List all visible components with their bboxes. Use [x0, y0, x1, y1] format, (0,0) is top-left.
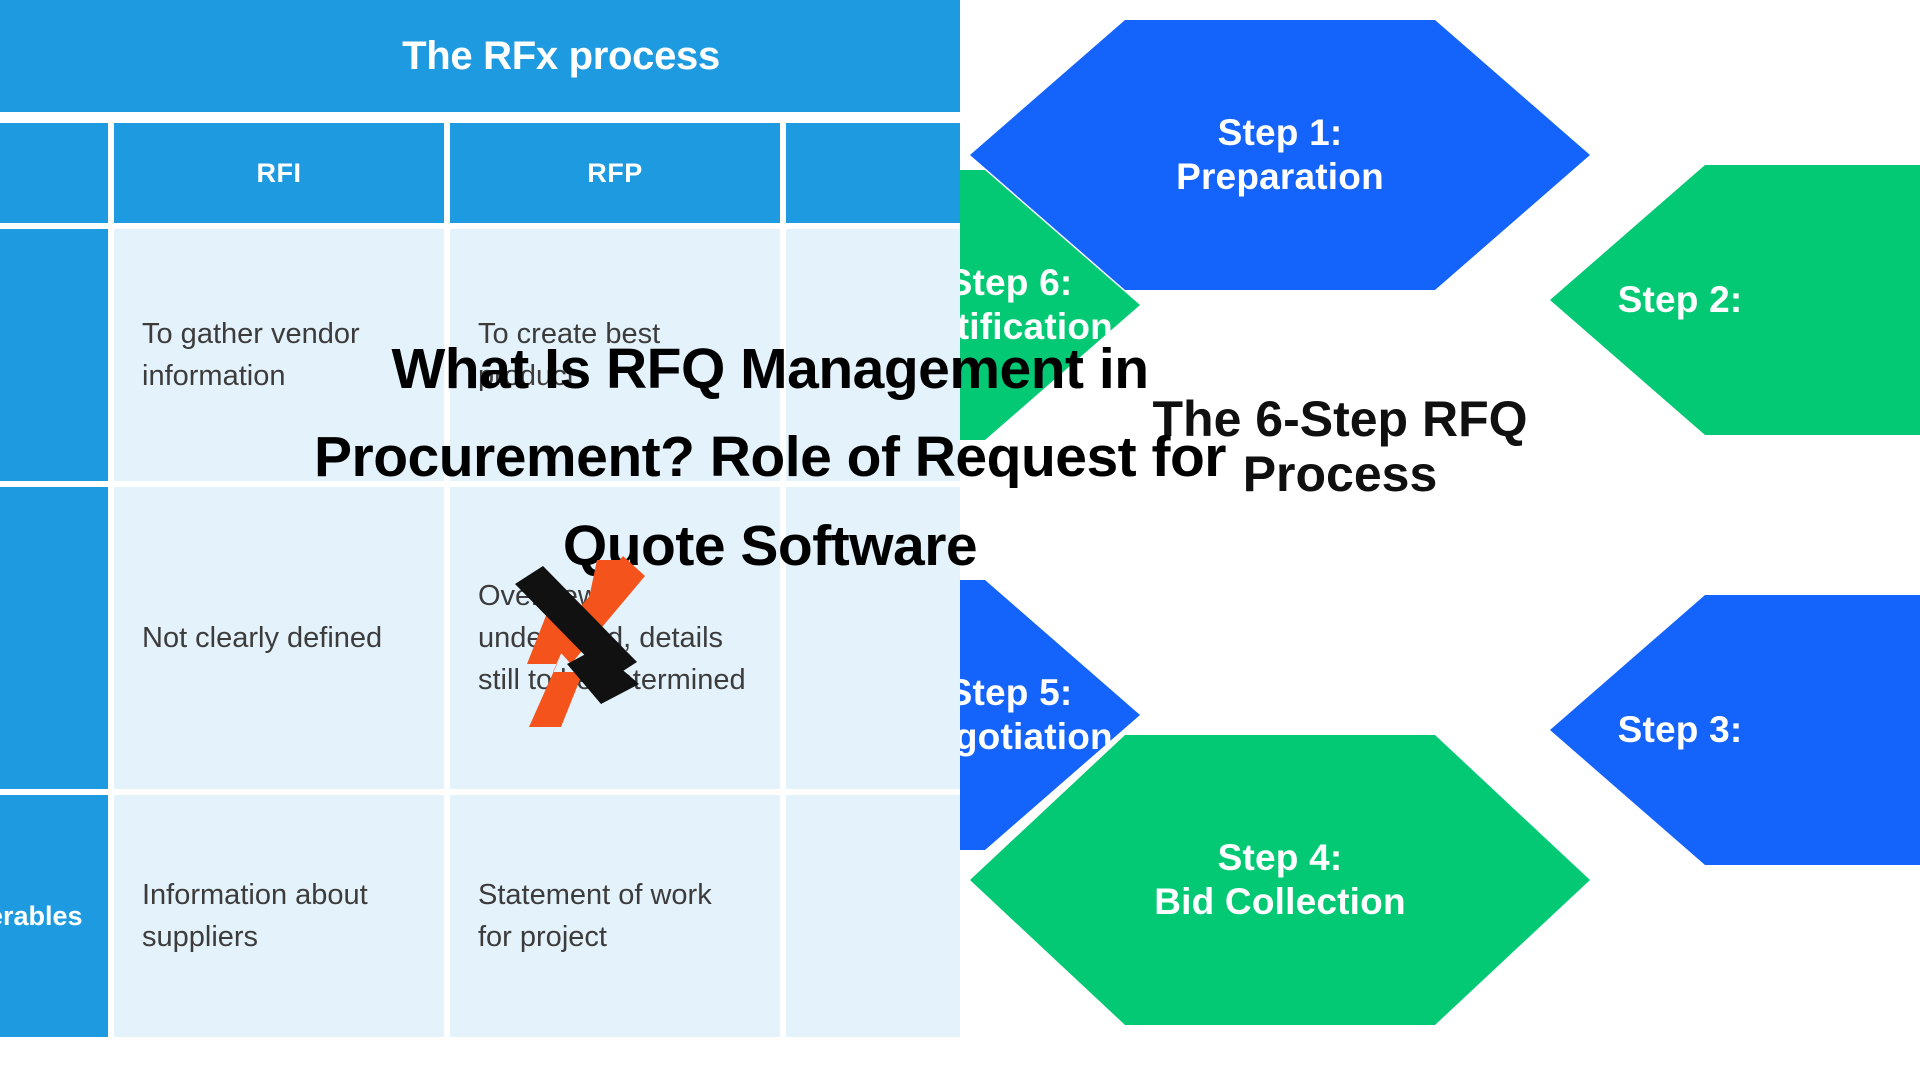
rfx-table: The RFx process RFI RFP To gather vendor…	[0, 0, 960, 1080]
corner-cell	[0, 123, 108, 223]
right-image-rfq-process: Step 1: Preparation Step 2: Step 3: Step…	[960, 0, 1920, 1080]
hex-step-3: Step 3:	[1550, 595, 1920, 865]
table-row: To gather vendor information To create b…	[0, 229, 960, 481]
screenshot-canvas: The RFx process RFI RFP To gather vendor…	[0, 0, 1920, 1080]
row-header-deliverables: Deliverables	[0, 795, 108, 1037]
left-image-rfx-table: The RFx process RFI RFP To gather vendor…	[0, 0, 960, 1080]
cell-rfi-deliverables: Information about suppliers	[114, 795, 444, 1037]
cell-rfp-purpose: To create best product	[450, 229, 780, 481]
cell-rfi-requirements: Not clearly defined	[114, 487, 444, 789]
row-header-requirements	[0, 487, 108, 789]
cell-rfi-purpose: To gather vendor information	[114, 229, 444, 481]
rfq-process-center-title: The 6-Step RFQ Process	[1060, 392, 1620, 502]
column-header-rfq	[786, 123, 960, 223]
column-header-rfi: RFI	[114, 123, 444, 223]
table-row: Deliverables Information about suppliers…	[0, 795, 960, 1037]
rfx-comparison-grid: RFI RFP To gather vendor information To …	[0, 117, 960, 1043]
hex-step-6-label: Step 6: Notification	[960, 261, 1113, 350]
cell-rfq-deliverables	[786, 795, 960, 1037]
row-header-purpose	[0, 229, 108, 481]
table-header-row: RFI RFP	[0, 123, 960, 223]
hex-step-5-label: Step 5: Negotiation	[960, 671, 1113, 760]
hex-step-2-label: Step 2:	[1618, 278, 1920, 322]
hex-step-3-label: Step 3:	[1618, 708, 1920, 752]
table-row: Not clearly defined Overview understood,…	[0, 487, 960, 789]
rfx-table-title: The RFx process	[0, 0, 960, 112]
chevron-logo-icon	[505, 552, 665, 727]
column-header-rfp: RFP	[450, 123, 780, 223]
cell-rfq-requirements	[786, 487, 960, 789]
cell-rfp-deliverables: Statement of work for project	[450, 795, 780, 1037]
hex-step-1-label: Step 1: Preparation	[1176, 111, 1384, 200]
hex-step-4-label: Step 4: Bid Collection	[1154, 836, 1406, 925]
cell-rfq-purpose	[786, 229, 960, 481]
